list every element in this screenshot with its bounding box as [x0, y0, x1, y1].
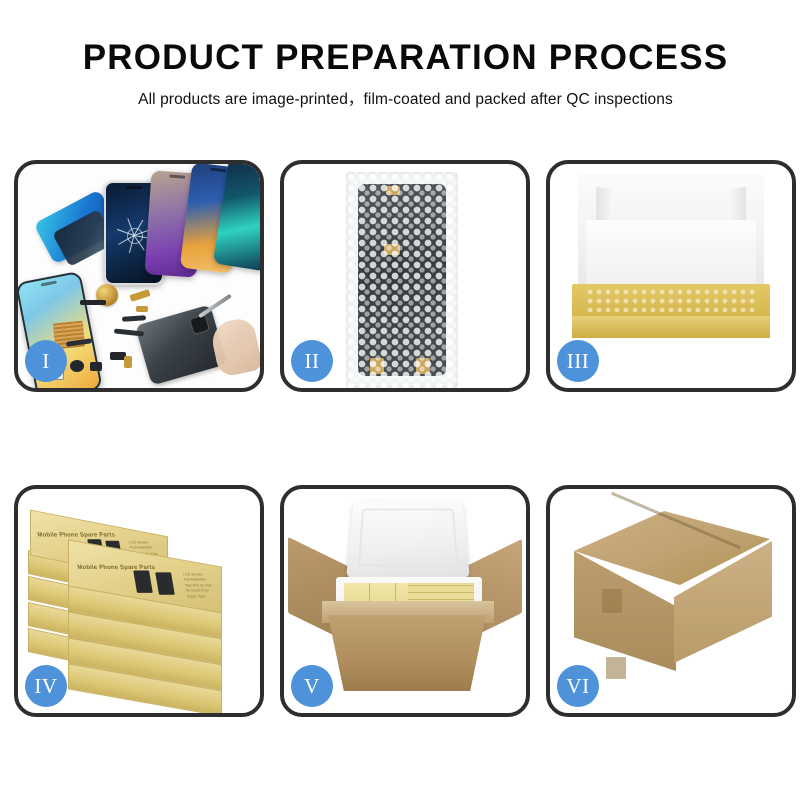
- tape-patch-icon: [602, 589, 622, 613]
- phone-notch-icon: [248, 164, 260, 166]
- step-2-illustration: II: [284, 164, 526, 388]
- phone-notch-icon: [126, 186, 142, 189]
- step-card-1: I: [14, 160, 264, 392]
- step-1-illustration: I: [18, 164, 260, 388]
- phone-notch-icon: [41, 280, 57, 286]
- step-4-illustration: Mobile Phone Spare Parts LCD ScreenFull …: [18, 489, 260, 713]
- flex-cable-icon: [122, 315, 146, 322]
- step-card-4: Mobile Phone Spare Parts LCD ScreenFull …: [14, 485, 264, 717]
- foam-sheet-icon: [586, 220, 756, 292]
- phone-notch-icon: [210, 167, 226, 172]
- step-card-5: V: [280, 485, 530, 717]
- step-badge-4: IV: [25, 665, 67, 707]
- gold-box-front-icon: [572, 316, 770, 338]
- step-5-illustration: V: [284, 489, 526, 713]
- hand-icon: [209, 316, 260, 378]
- box-spec-text: LCD ScreenFull AssemblyTest One by OneNo…: [183, 572, 214, 599]
- step-badge-3: III: [557, 340, 599, 382]
- step-card-3: III: [546, 160, 796, 392]
- tape-patch-icon: [606, 657, 626, 679]
- step-badge-2: II: [291, 340, 333, 382]
- box-label-text: Mobile Phone Spare Parts: [37, 533, 116, 539]
- step-3-illustration: III: [550, 164, 792, 388]
- header: PRODUCT PREPARATION PROCESS All products…: [0, 0, 811, 109]
- foam-lid-icon: [346, 501, 470, 578]
- product-preparation-infographic: PRODUCT PREPARATION PROCESS All products…: [0, 0, 811, 811]
- step-badge-6: VI: [557, 665, 599, 707]
- screw-icon: [124, 356, 132, 368]
- carton-body-icon: [328, 615, 486, 691]
- bubble-wrap-bag-icon: [346, 172, 458, 388]
- speaker-icon: [70, 360, 84, 372]
- steps-grid: I II: [14, 160, 797, 717]
- step-card-6: VI: [546, 485, 796, 717]
- step-badge-5: V: [291, 665, 333, 707]
- earpiece-speaker-icon: [80, 300, 106, 305]
- page-subtitle: All products are image-printed，film-coat…: [0, 87, 811, 109]
- step-card-2: II: [280, 160, 530, 392]
- step-badge-1: I: [25, 340, 67, 382]
- flex-cable-gold-icon: [129, 289, 150, 302]
- bubble-texture-overlay: [346, 172, 458, 388]
- small-part-icon: [90, 362, 102, 371]
- connector-gold-icon: [136, 306, 148, 312]
- page-title: PRODUCT PREPARATION PROCESS: [0, 40, 811, 77]
- step-6-illustration: VI: [550, 489, 792, 713]
- phone-notch-icon: [169, 175, 185, 179]
